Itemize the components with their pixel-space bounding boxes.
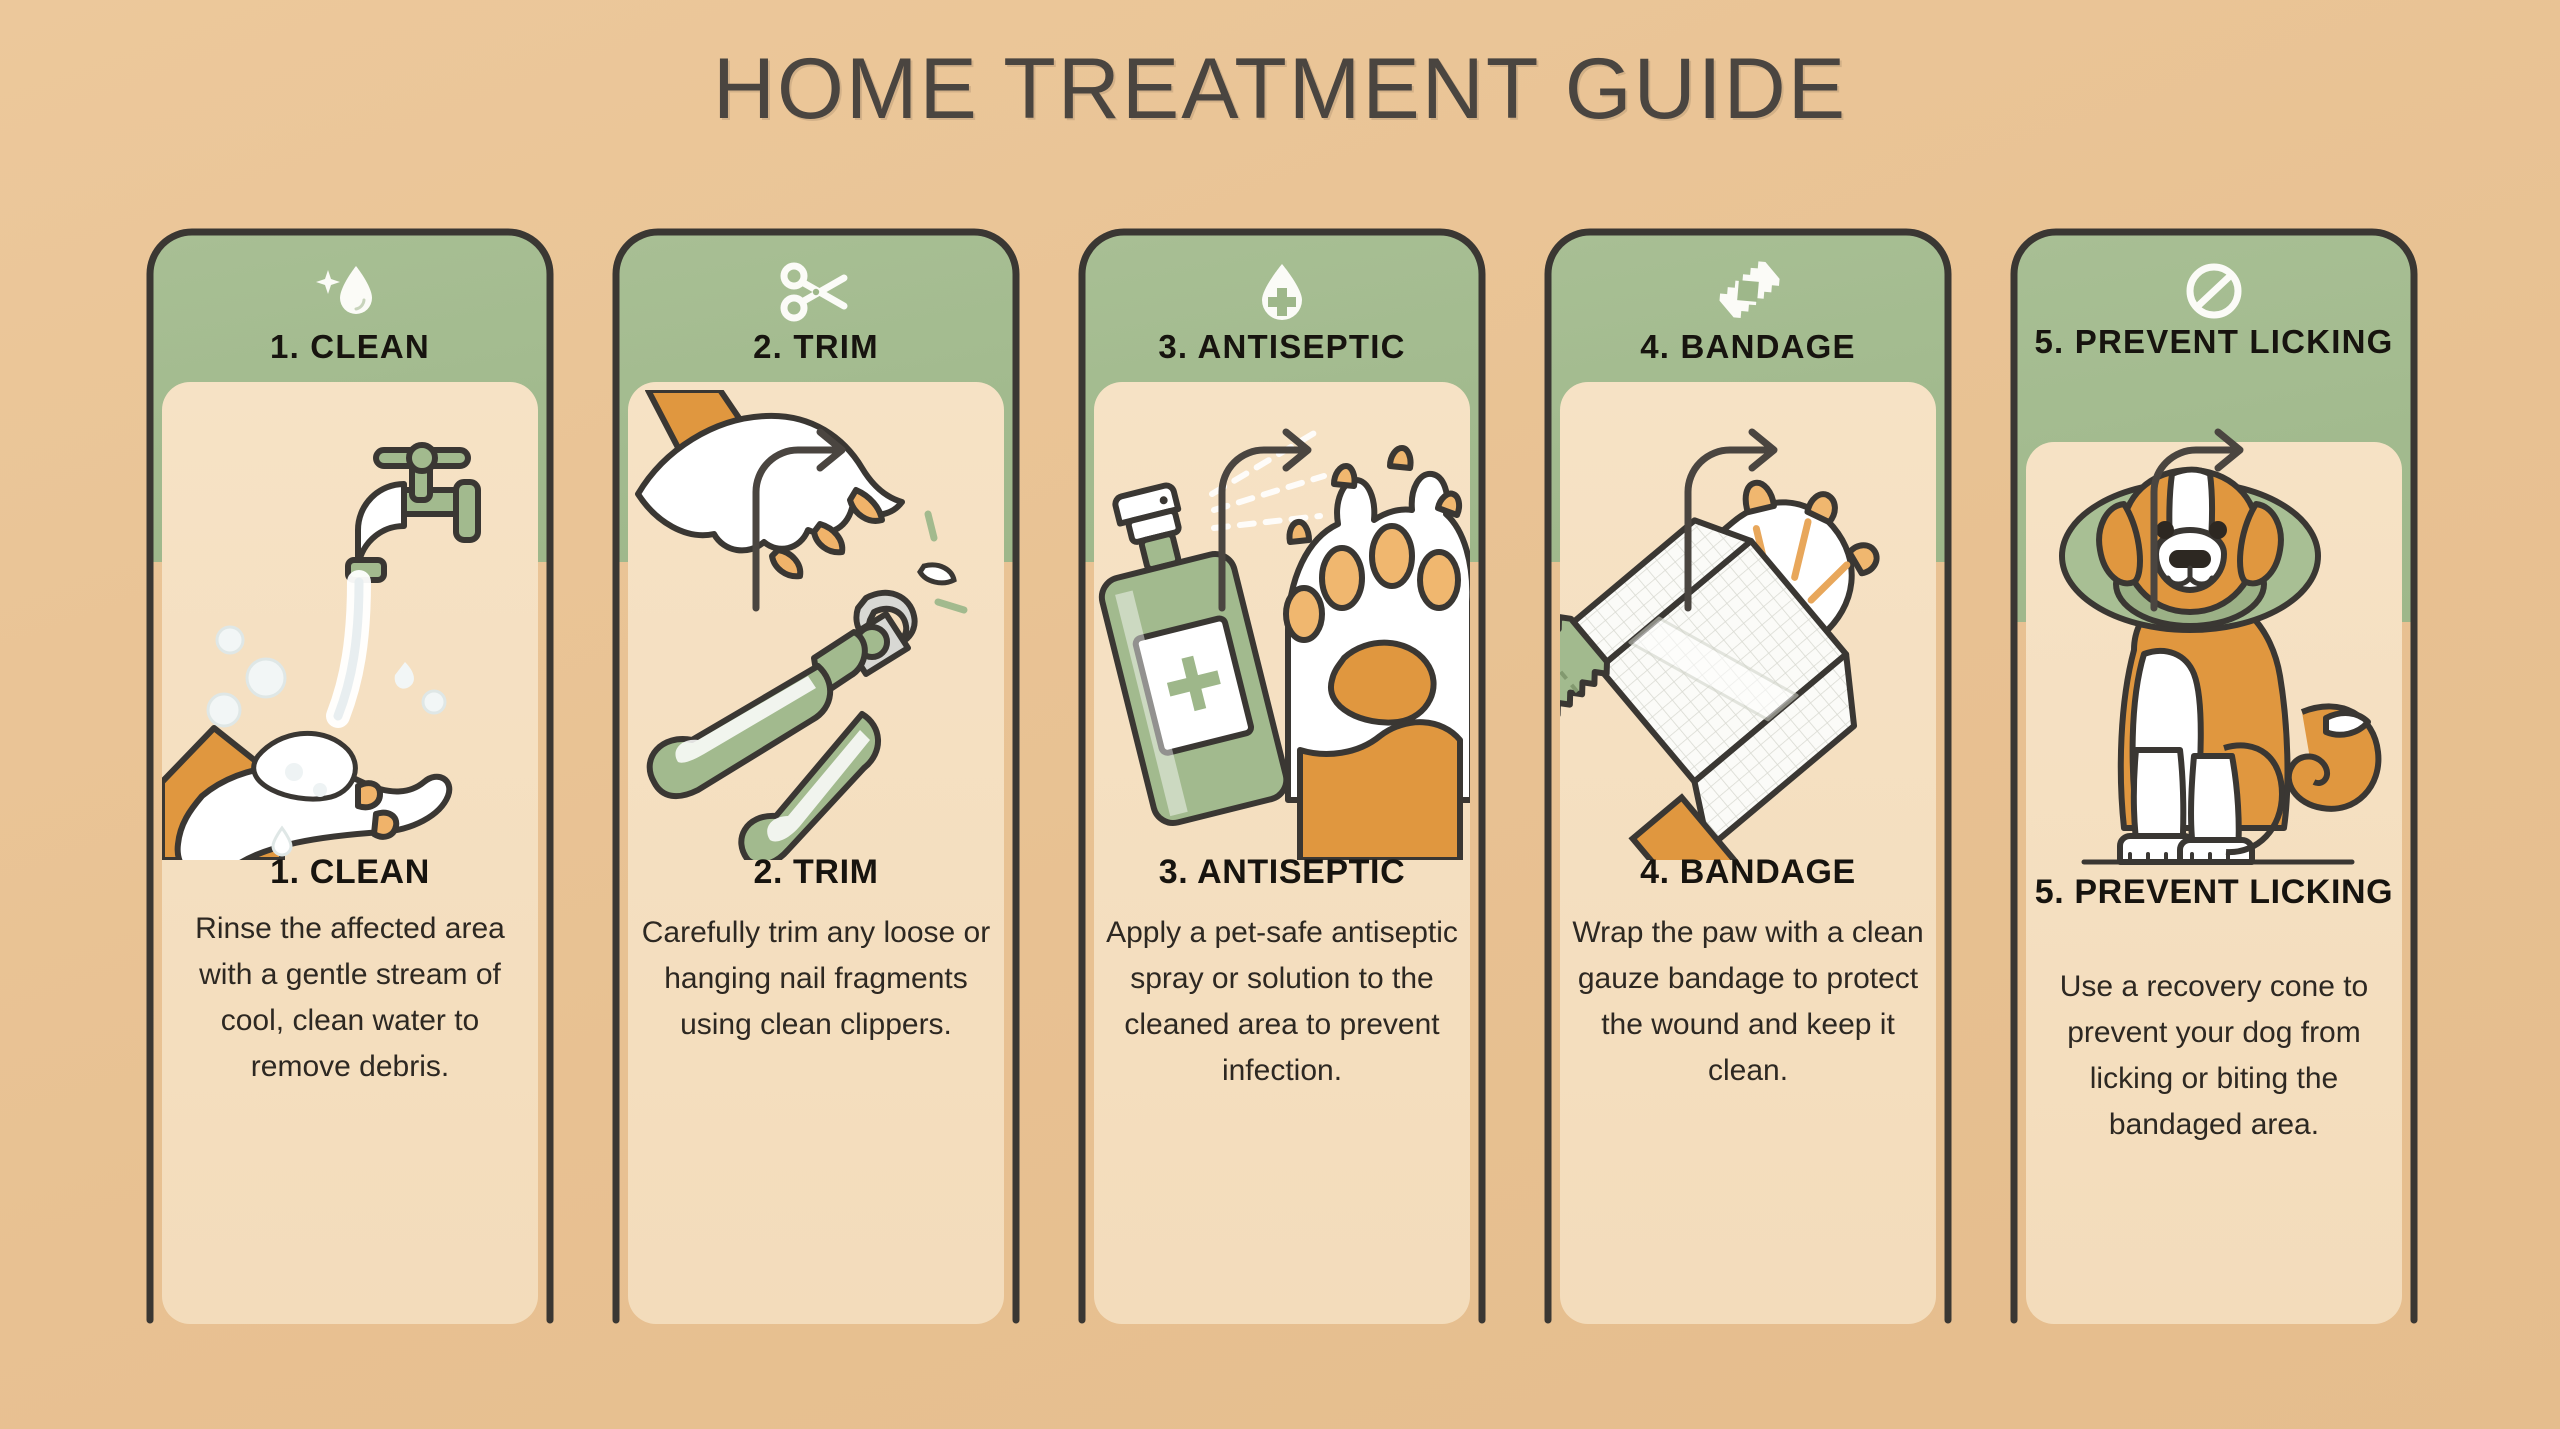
step-body-title: 1. CLEAN bbox=[166, 852, 534, 893]
faucet-washing-paw-illustration bbox=[162, 390, 538, 860]
step-body-description: Apply a pet-safe antiseptic spray or sol… bbox=[1100, 910, 1464, 1094]
nail-clippers-paw-illustration bbox=[628, 390, 1004, 860]
step-header-label: 3. ANTISEPTIC bbox=[1082, 328, 1482, 366]
step-card-bandage[interactable]: 4. BANDAGE bbox=[1548, 232, 1948, 1332]
step-card-body: 1. CLEAN Rinse the affected area with a … bbox=[162, 382, 538, 1324]
step-card-body: 2. TRIM Carefully trim any loose or hang… bbox=[628, 382, 1004, 1324]
step-header-label: 2. TRIM bbox=[616, 328, 1016, 366]
step-card-body: 5. PREVENT LICKING Use a recovery cone t… bbox=[2026, 442, 2402, 1324]
step-body-description: Rinse the affected area with a gentle st… bbox=[168, 906, 532, 1090]
step-card-body: 4. BANDAGE Wrap the paw with a clean gau… bbox=[1560, 382, 1936, 1324]
step-card-antiseptic[interactable]: 3. ANTISEPTIC bbox=[1082, 232, 1482, 1332]
bandage-plaster-icon bbox=[1548, 260, 1948, 322]
dog-with-recovery-cone-illustration bbox=[2026, 450, 2402, 880]
step-body-title: 3. ANTISEPTIC bbox=[1098, 852, 1466, 893]
step-card-clean[interactable]: 1. CLEAN bbox=[150, 232, 550, 1332]
steps-container: 1. CLEAN bbox=[150, 232, 2420, 1342]
infographic-canvas: HOME TREATMENT GUIDE 1. CLEAN bbox=[0, 0, 2560, 1429]
step-card-trim[interactable]: 2. TRIM bbox=[616, 232, 1016, 1332]
medical-drop-cross-icon bbox=[1082, 260, 1482, 322]
step-header-label: 4. BANDAGE bbox=[1548, 328, 1948, 366]
step-body-title: 4. BANDAGE bbox=[1564, 852, 1932, 893]
step-body-description: Carefully trim any loose or hanging nail… bbox=[634, 910, 998, 1048]
step-body-description: Use a recovery cone to prevent your dog … bbox=[2032, 964, 2396, 1148]
prohibition-no-icon bbox=[2014, 260, 2414, 322]
scissors-icon bbox=[616, 260, 1016, 322]
page-title: HOME TREATMENT GUIDE bbox=[0, 40, 2560, 139]
water-drop-sparkle-icon bbox=[150, 260, 550, 322]
step-body-title: 5. PREVENT LICKING bbox=[2030, 872, 2398, 913]
step-card-prevent-licking[interactable]: 5. PREVENT LICKING bbox=[2014, 232, 2414, 1332]
step-card-body: 3. ANTISEPTIC Apply a pet-safe antisepti… bbox=[1094, 382, 1470, 1324]
step-body-title: 2. TRIM bbox=[632, 852, 1000, 893]
step-header-label: 1. CLEAN bbox=[150, 328, 550, 366]
antiseptic-spray-paw-illustration bbox=[1094, 390, 1470, 860]
gauze-wrapped-paw-illustration bbox=[1560, 390, 1936, 860]
step-body-description: Wrap the paw with a clean gauze bandage … bbox=[1566, 910, 1930, 1094]
step-header-label: 5. PREVENT LICKING bbox=[2014, 322, 2414, 362]
